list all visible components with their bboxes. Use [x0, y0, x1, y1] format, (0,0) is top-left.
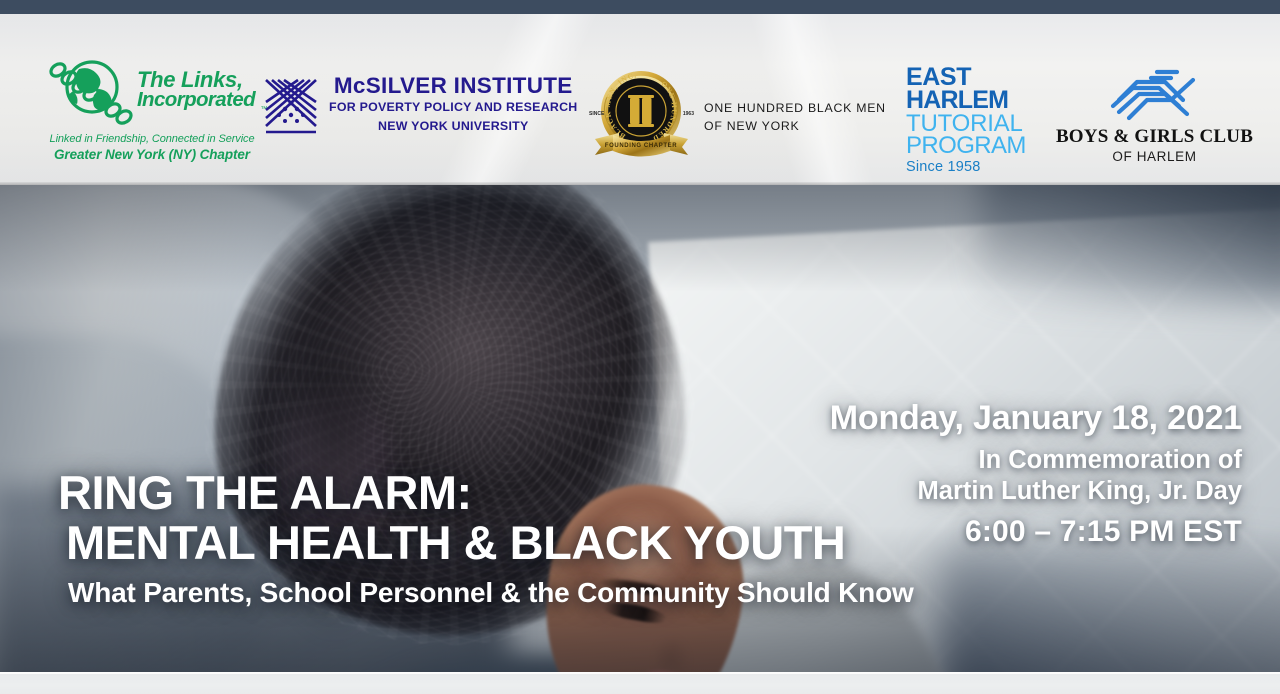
ohbm-name-line-2: OF NEW YORK	[704, 119, 799, 133]
event-title-block: RING THE ALARM: MENTAL HEALTH & BLACK YO…	[58, 468, 914, 610]
clasped-hands-icon	[1099, 66, 1211, 124]
sponsor-logo-mcsilver-institute[interactable]: McSILVER INSTITUTE FOR POVERTY POLICY AN…	[262, 74, 552, 144]
links-lockup: The Links, Incorporated ™	[49, 51, 255, 129]
svg-text:FOUNDING CHAPTER: FOUNDING CHAPTER	[605, 143, 677, 149]
ohbm-wordmark: ONE HUNDRED BLACK MEN OF NEW YORK	[704, 99, 889, 136]
mcsilver-wordmark: McSILVER INSTITUTE FOR POVERTY POLICY AN…	[329, 74, 577, 135]
bgc-name-line-1: BOYS & GIRLS CLUB	[1056, 126, 1253, 148]
mcsilver-name-line-3: NEW YORK UNIVERSITY	[378, 119, 528, 133]
links-wordmark: The Links, Incorporated ™	[137, 70, 255, 109]
sponsor-logo-strip: The Links, Incorporated ™ Linked in Frie…	[0, 14, 1280, 185]
links-chapter: Greater New York (NY) Chapter	[54, 147, 250, 162]
seal-since-right: 1963	[683, 111, 694, 117]
eht-since: Since 1958	[906, 159, 981, 176]
sponsor-logo-boys-and-girls-club-of-harlem[interactable]: BOYS & GIRLS CLUB OF HARLEM	[1062, 66, 1247, 166]
ohbm-name-line-1: ONE HUNDRED BLACK MEN	[704, 101, 886, 115]
event-title-line-1: RING THE ALARM:	[58, 468, 914, 518]
event-title-line-2: MENTAL HEALTH & BLACK YOUTH	[66, 518, 914, 568]
eht-name-line-4: PROGRAM	[906, 135, 1026, 158]
sponsor-logo-one-hundred-black-men[interactable]: ONE HUNDRED BLACK MEN, INC. FOUNDING CHA…	[589, 66, 889, 168]
bottom-strip	[0, 672, 1280, 694]
links-name-line-2: Incorporated	[137, 91, 255, 110]
event-subtitle: What Parents, School Personnel & the Com…	[68, 576, 914, 610]
bgc-name-line-2: OF HARLEM	[1112, 149, 1196, 164]
nyu-torch-icon	[262, 76, 320, 138]
hero-section: Monday, January 18, 2021 In Commemoratio…	[0, 185, 1280, 672]
event-date: Monday, January 18, 2021	[830, 398, 1242, 438]
sponsor-logo-the-links-incorporated[interactable]: The Links, Incorporated ™ Linked in Frie…	[52, 51, 252, 163]
event-banner: The Links, Incorporated ™ Linked in Frie…	[0, 0, 1280, 694]
seal-since-left: SINCE	[589, 111, 604, 117]
chain-globe-icon	[49, 53, 135, 127]
links-tagline: Linked in Friendship, Connected in Servi…	[50, 133, 255, 145]
gold-seal-icon: ONE HUNDRED BLACK MEN, INC. FOUNDING CHA…	[589, 67, 694, 167]
top-accent-bar	[0, 0, 1280, 14]
eht-name-line-2: HARLEM	[906, 89, 1008, 112]
mcsilver-name-line-2: FOR POVERTY POLICY AND RESEARCH	[329, 100, 577, 114]
mcsilver-name-line-1: McSILVER INSTITUTE	[334, 73, 573, 98]
sponsor-logo-east-harlem-tutorial-program[interactable]: EAST HARLEM TUTORIAL PROGRAM Since 1958	[906, 66, 1031, 166]
